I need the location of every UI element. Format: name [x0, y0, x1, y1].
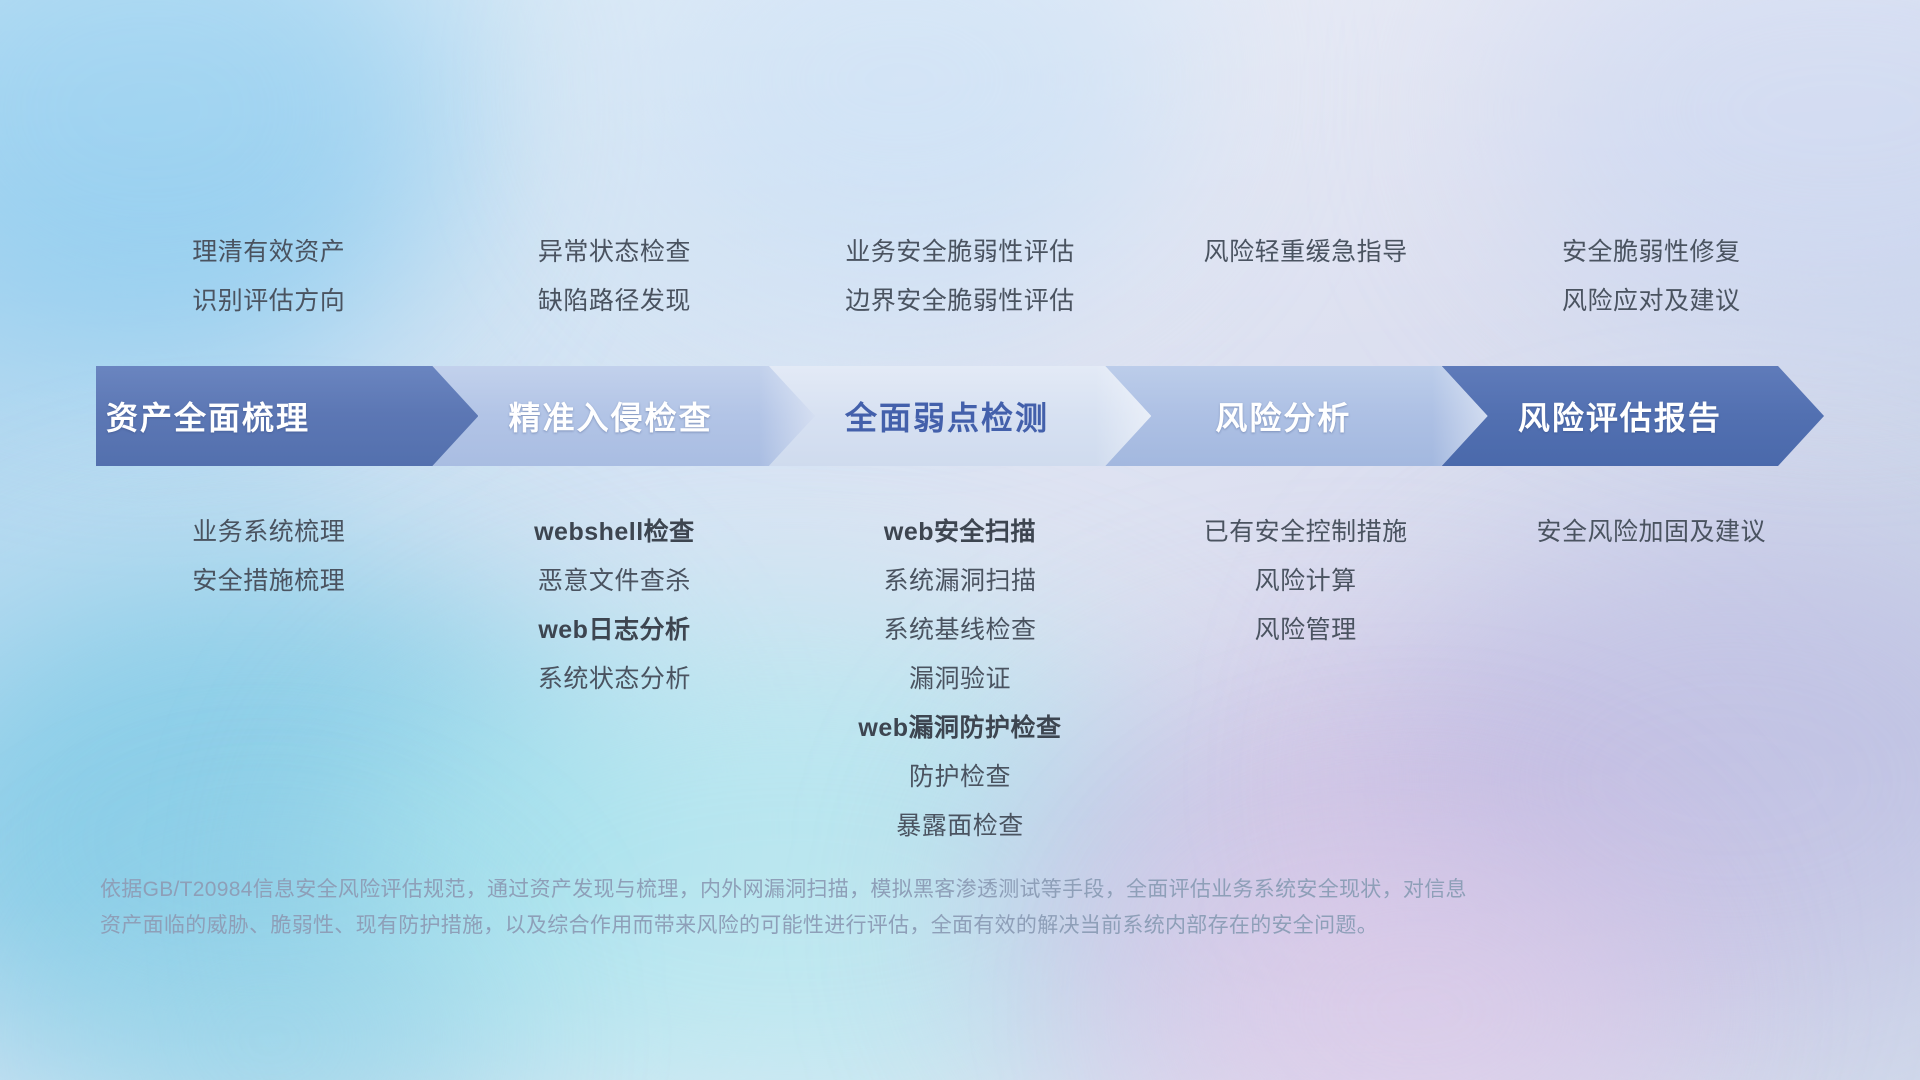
- bottom-item: 漏洞验证: [909, 655, 1011, 704]
- bottom-items-row: 业务系统梳理 安全措施梳理 webshell检查 恶意文件查杀 web日志分析 …: [96, 508, 1824, 851]
- top-items-stage-3: 业务安全脆弱性评估 边界安全脆弱性评估: [787, 228, 1133, 326]
- top-item: 风险应对及建议: [1562, 277, 1741, 326]
- chevron-stage-5[interactable]: 风险评估报告: [1442, 366, 1824, 466]
- top-items-row: 理清有效资产 识别评估方向 异常状态检查 缺陷路径发现 业务安全脆弱性评估 边界…: [96, 228, 1824, 326]
- bottom-item: 系统状态分析: [538, 655, 691, 704]
- chevron-label: 资产全面梳理: [96, 393, 478, 439]
- slide-canvas: 理清有效资产 识别评估方向 异常状态检查 缺陷路径发现 业务安全脆弱性评估 边界…: [0, 0, 1920, 1080]
- chevron-stage-3[interactable]: 全面弱点检测: [769, 366, 1151, 466]
- top-item: 风险轻重缓急指导: [1204, 228, 1408, 277]
- bottom-item: 安全措施梳理: [192, 557, 345, 606]
- chevron-label: 全面弱点检测: [769, 393, 1151, 439]
- bottom-item: 安全风险加固及建议: [1536, 508, 1766, 557]
- chevron-stage-1[interactable]: 资产全面梳理: [96, 366, 478, 466]
- top-item: 业务安全脆弱性评估: [845, 228, 1075, 277]
- top-items-stage-1: 理清有效资产 识别评估方向: [96, 228, 442, 326]
- footer-line-1: 依据GB/T20984信息安全风险评估规范，通过资产发现与梳理，内外网漏洞扫描，…: [100, 872, 1620, 908]
- bottom-item: 风险计算: [1255, 557, 1357, 606]
- chevron-label: 风险分析: [1105, 393, 1487, 439]
- bottom-item: 暴露面检查: [896, 802, 1024, 851]
- bottom-items-stage-1: 业务系统梳理 安全措施梳理: [96, 508, 442, 851]
- bottom-items-stage-4: 已有安全控制措施 风险计算 风险管理: [1133, 508, 1479, 851]
- chevron-label: 风险评估报告: [1442, 393, 1824, 439]
- chevron-label: 精准入侵检查: [432, 393, 814, 439]
- bottom-item: web安全扫描: [884, 508, 1036, 557]
- bottom-item: 防护检查: [909, 753, 1011, 802]
- bottom-items-stage-2: webshell检查 恶意文件查杀 web日志分析 系统状态分析: [442, 508, 788, 851]
- chevron-stage-2[interactable]: 精准入侵检查: [432, 366, 814, 466]
- bottom-item: 业务系统梳理: [192, 508, 345, 557]
- top-item: 边界安全脆弱性评估: [845, 277, 1075, 326]
- top-item: 安全脆弱性修复: [1562, 228, 1741, 277]
- bottom-items-stage-3: web安全扫描 系统漏洞扫描 系统基线检查 漏洞验证 web漏洞防护检查 防护检…: [787, 508, 1133, 851]
- chevron-stage-4[interactable]: 风险分析: [1105, 366, 1487, 466]
- bottom-item: 系统基线检查: [883, 606, 1036, 655]
- top-item: 识别评估方向: [192, 277, 345, 326]
- bottom-item: 系统漏洞扫描: [883, 557, 1036, 606]
- bottom-item: 风险管理: [1255, 606, 1357, 655]
- bottom-item: 已有安全控制措施: [1204, 508, 1408, 557]
- bottom-items-stage-5: 安全风险加固及建议: [1478, 508, 1824, 851]
- top-item: 理清有效资产: [192, 228, 345, 277]
- bottom-item: webshell检查: [534, 508, 695, 557]
- bottom-item: web日志分析: [538, 606, 690, 655]
- bottom-item: web漏洞防护检查: [858, 704, 1061, 753]
- process-chevron-band: 资产全面梳理 精准入侵检查 全面弱点检测 风险分析 风险评估报告: [96, 366, 1824, 466]
- top-items-stage-5: 安全脆弱性修复 风险应对及建议: [1478, 228, 1824, 326]
- top-item: 缺陷路径发现: [538, 277, 691, 326]
- slide-content: 理清有效资产 识别评估方向 异常状态检查 缺陷路径发现 业务安全脆弱性评估 边界…: [0, 0, 1920, 1080]
- footer-line-2: 资产面临的威胁、脆弱性、现有防护措施，以及综合作用而带来风险的可能性进行评估，全…: [100, 908, 1620, 944]
- top-item: 异常状态检查: [538, 228, 691, 277]
- top-items-stage-4: 风险轻重缓急指导: [1133, 228, 1479, 326]
- bottom-item: 恶意文件查杀: [538, 557, 691, 606]
- footer-description: 依据GB/T20984信息安全风险评估规范，通过资产发现与梳理，内外网漏洞扫描，…: [100, 872, 1620, 944]
- top-items-stage-2: 异常状态检查 缺陷路径发现: [442, 228, 788, 326]
